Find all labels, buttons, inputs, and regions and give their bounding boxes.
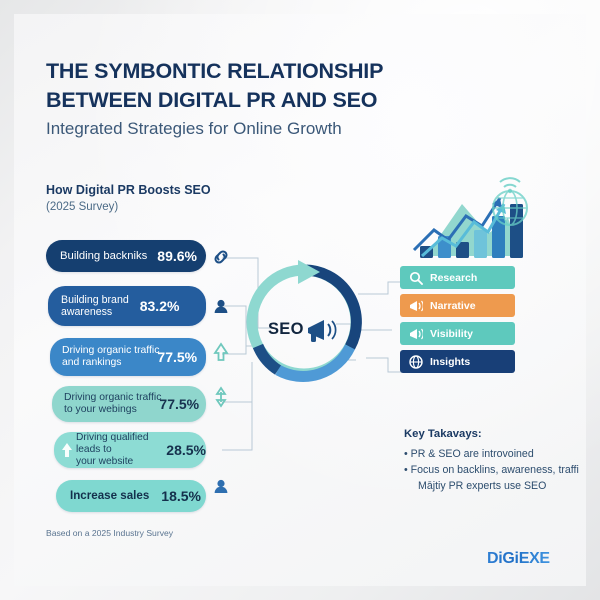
cycle-arrow-head xyxy=(298,260,320,284)
page-title-line2: BETWEEN DIGITAL PR AND SEO xyxy=(46,86,466,115)
bar-value-5: 28.5% xyxy=(166,442,206,458)
brand-logo: DiGiEXE xyxy=(487,550,550,568)
pill-list: Research Narrative Visibility Insights xyxy=(400,266,515,378)
link-icon xyxy=(212,248,230,266)
bar-value-4: 77.5% xyxy=(159,396,199,412)
bar-row-2[interactable]: Building brand awareness 83.2% xyxy=(48,286,206,326)
page-title-line1: THE SYMBONTIC RELATIONSHIP xyxy=(46,57,466,86)
user-badge-icon xyxy=(212,298,230,316)
takeaways-title: Key Takavays: xyxy=(404,428,482,440)
takeaway-item-1: • PR & SEO are introvoined xyxy=(404,446,600,462)
pill-insights[interactable]: Insights xyxy=(400,350,515,373)
bar-row-5[interactable]: Driving qualified leads to your website … xyxy=(54,432,206,468)
bar-value-6: 18.5% xyxy=(161,488,201,504)
up-arrow-icon xyxy=(212,342,230,362)
cycle-ring-darkblue xyxy=(258,346,278,370)
connector-bottom xyxy=(222,402,252,450)
bar-row-6[interactable]: Increase sales 18.5% xyxy=(56,480,206,512)
megaphone-icon xyxy=(409,327,423,341)
bar-label-5: Driving qualified leads to your website xyxy=(76,432,168,468)
cycle-ring-blue xyxy=(278,347,350,376)
bar-label-3: Driving organic traffic and rankings xyxy=(62,345,159,369)
bar-label-1: Building backniks xyxy=(60,250,147,262)
bar-label-4: Driving organic traffic to your webings xyxy=(64,392,161,416)
search-icon xyxy=(409,271,423,285)
page-subtitle: Integrated Strategies for Online Growth xyxy=(46,118,466,140)
page-title: THE SYMBONTIC RELATIONSHIP BETWEEN DIGIT… xyxy=(46,57,466,115)
megaphone-icon xyxy=(409,299,423,313)
bar-chart: Building backniks 89.6% Building brand a… xyxy=(46,240,221,505)
takeaways-list: • PR & SEO are introvoined • Focus on ba… xyxy=(404,446,600,494)
bar-row-1[interactable]: Building backniks 89.6% xyxy=(46,240,206,272)
growth-chart-illustration xyxy=(404,168,540,272)
megaphone-icon xyxy=(304,316,344,346)
chart-section-title: How Digital PR Boosts SEO xyxy=(46,183,211,197)
bar-value-1: 89.6% xyxy=(157,248,197,264)
takeaway-subitem: Mājtiy PR experts use SEO xyxy=(418,478,600,494)
bar-label-2: Building brand awareness xyxy=(61,294,129,318)
pill-label-research: Research xyxy=(430,272,477,284)
pill-narrative[interactable]: Narrative xyxy=(400,294,515,317)
connector-pill-3 xyxy=(366,358,404,372)
growth-bar-4 xyxy=(474,230,487,258)
up-down-arrow-icon xyxy=(212,386,230,408)
bar-row-3[interactable]: Driving organic traffic and rankings 77.… xyxy=(50,338,206,376)
wifi-signal-icon xyxy=(500,178,520,193)
pill-label-visibility: Visibility xyxy=(430,328,473,340)
up-arrow-icon xyxy=(60,441,74,459)
pill-label-narrative: Narrative xyxy=(430,300,476,312)
pill-research[interactable]: Research xyxy=(400,266,515,289)
takeaway-item-2: • Focus on backlins, awareness, traffi xyxy=(404,462,600,478)
seo-center-label: SEO xyxy=(268,320,304,339)
globe-icon xyxy=(409,355,423,369)
bar-value-3: 77.5% xyxy=(157,349,197,365)
pill-label-insights: Insights xyxy=(430,356,470,368)
bar-value-2: 83.2% xyxy=(140,298,180,314)
user-badge-icon xyxy=(212,478,230,496)
chart-footnote: Based on a 2025 Industry Survey xyxy=(46,528,173,538)
bar-label-6: Increase sales xyxy=(70,490,149,502)
chart-section-subtitle: (2025 Survey) xyxy=(46,201,118,213)
bar-row-4[interactable]: Driving organic traffic to your webings … xyxy=(52,386,206,422)
infographic-poster: THE SYMBONTIC RELATIONSHIP BETWEEN DIGIT… xyxy=(0,0,600,600)
pill-visibility[interactable]: Visibility xyxy=(400,322,515,345)
